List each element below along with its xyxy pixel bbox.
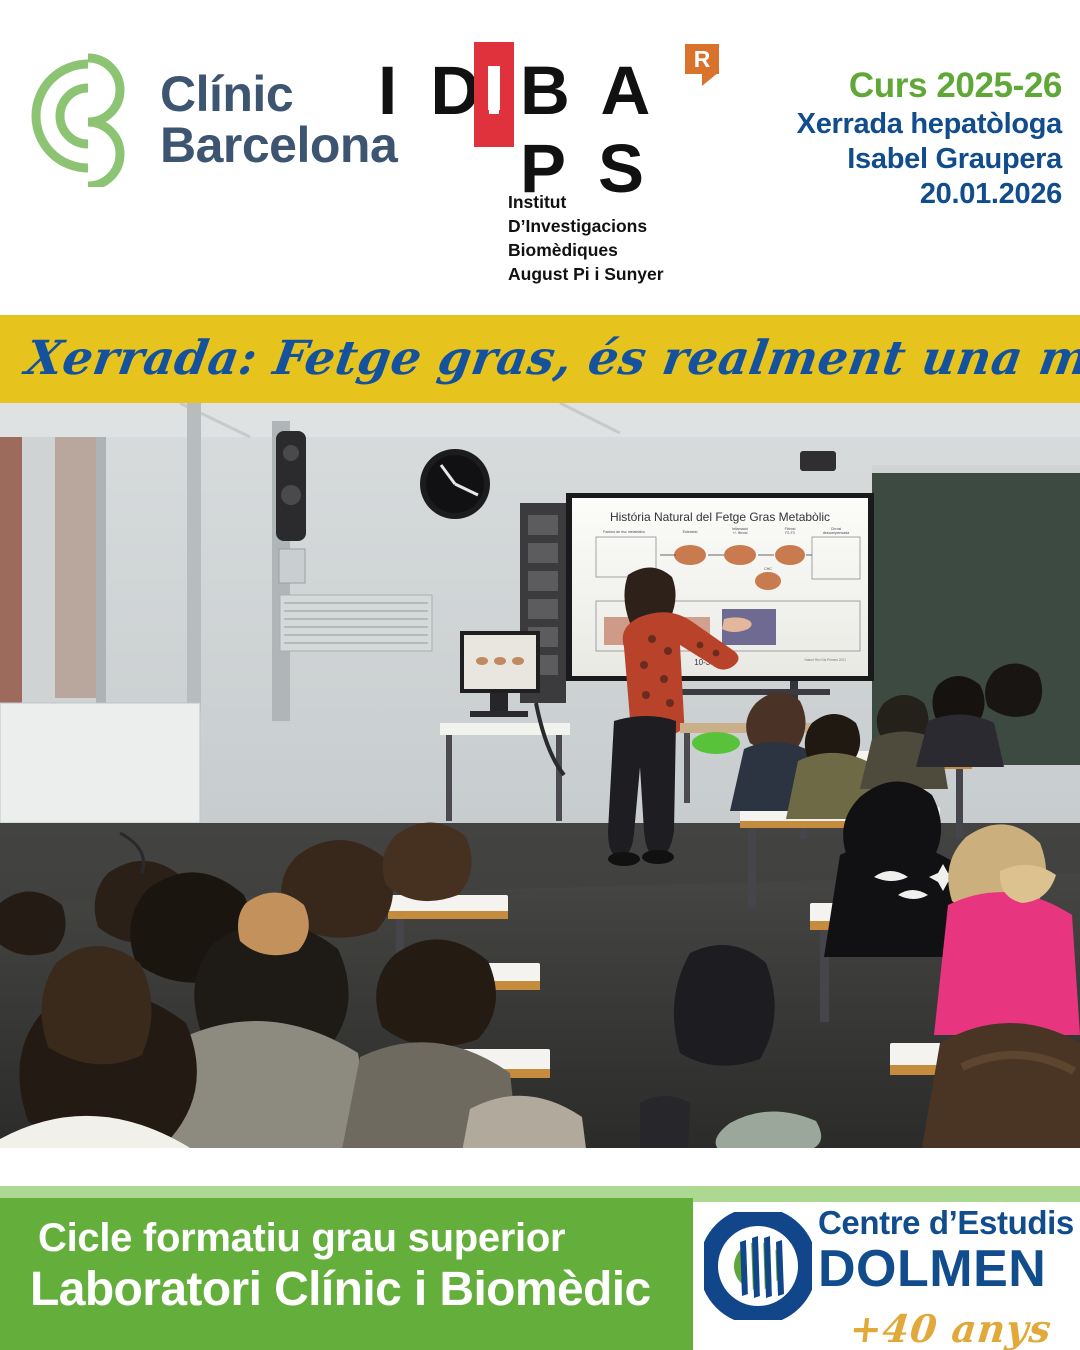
dolmen-years: +40 anys [848,1306,1054,1350]
wall-clock-icon [420,449,490,519]
clinic-cb-mark-icon [26,52,144,187]
title-banner: Xerrada: Fetge gras, és realment una mal… [0,315,1080,403]
clinic-word-line1: Clínic [160,69,397,120]
event-info-block: Curs 2025-26 Xerrada hepatòloga Isabel G… [797,66,1062,213]
poster-footer: Cicle formatiu grau superior Laboratori … [0,1148,1080,1350]
r-badge-tail [702,72,719,86]
classroom-photo: História Natural del Fetge Gras Metabòli… [0,403,1080,1148]
dolmen-logo: Centre d’Estudis DOLMEN +40 anys [700,1202,1080,1350]
banner-title: Xerrada: Fetge gras, és realment una mal… [20,323,1061,395]
idibaps-subtitle: Institut D’Investigacions Biomèdiques Au… [508,190,664,287]
svg-text:Nature Rev Dis Primers 2021: Nature Rev Dis Primers 2021 [805,658,847,662]
idibaps-wordmark: I D I B A P S R [378,52,728,130]
dolmen-line1: Centre d’Estudis [818,1206,1074,1241]
idibaps-logo: I D I B A P S R Institut D’Investigacion… [378,52,728,130]
dolmen-wordmark: Centre d’Estudis DOLMEN [818,1206,1074,1295]
svg-text:F2-F3: F2-F3 [785,531,795,535]
clinic-barcelona-logo: Clínic Barcelona [26,52,397,187]
poster-header: Clínic Barcelona I D I B A P S R Institu… [0,0,1080,315]
svg-text:CHC: CHC [764,567,772,571]
program-line1: Cicle formatiu grau superior [38,1216,565,1261]
svg-text:Esteatosi: Esteatosi [683,530,698,534]
idibaps-subtitle-line1: Institut [508,190,664,214]
idibaps-subtitle-line2: D’Investigacions [508,214,664,238]
talk-role: Xerrada hepatòloga [797,107,1062,142]
idibaps-subtitle-line3: Biomèdiques [508,238,664,262]
dolmen-line2: DOLMEN [818,1243,1074,1295]
program-line2: Laboratori Clínic i Biomèdic [30,1262,651,1317]
svg-text:Factors de risc metabòlics: Factors de risc metabòlics [603,530,645,534]
r-badge-letter: R [685,44,719,74]
poster: Clínic Barcelona I D I B A P S R Institu… [0,0,1080,1350]
speaker-name: Isabel Graupera [797,142,1062,177]
course-year: Curs 2025-26 [797,66,1062,107]
idibaps-letter-highlight: I [474,52,514,130]
clinic-barcelona-wordmark: Clínic Barcelona [160,69,397,171]
program-block: Cicle formatiu grau superior Laboratori … [0,1198,693,1350]
classroom-photo-illustration: História Natural del Fetge Gras Metabòli… [0,403,1080,1148]
idibaps-letters-left: I D [378,52,487,130]
dolmen-circle-icon [704,1212,812,1320]
event-date: 20.01.2026 [797,177,1062,212]
idibaps-subtitle-line4: August Pi i Sunyer [508,262,664,286]
svg-text:descompensada: descompensada [823,531,849,535]
slide-title: História Natural del Fetge Gras Metabòli… [610,510,830,524]
svg-text:+/- fibrosi: +/- fibrosi [733,531,748,535]
clinic-word-line2: Barcelona [160,120,397,171]
idibaps-r-badge-icon: R [685,44,719,86]
